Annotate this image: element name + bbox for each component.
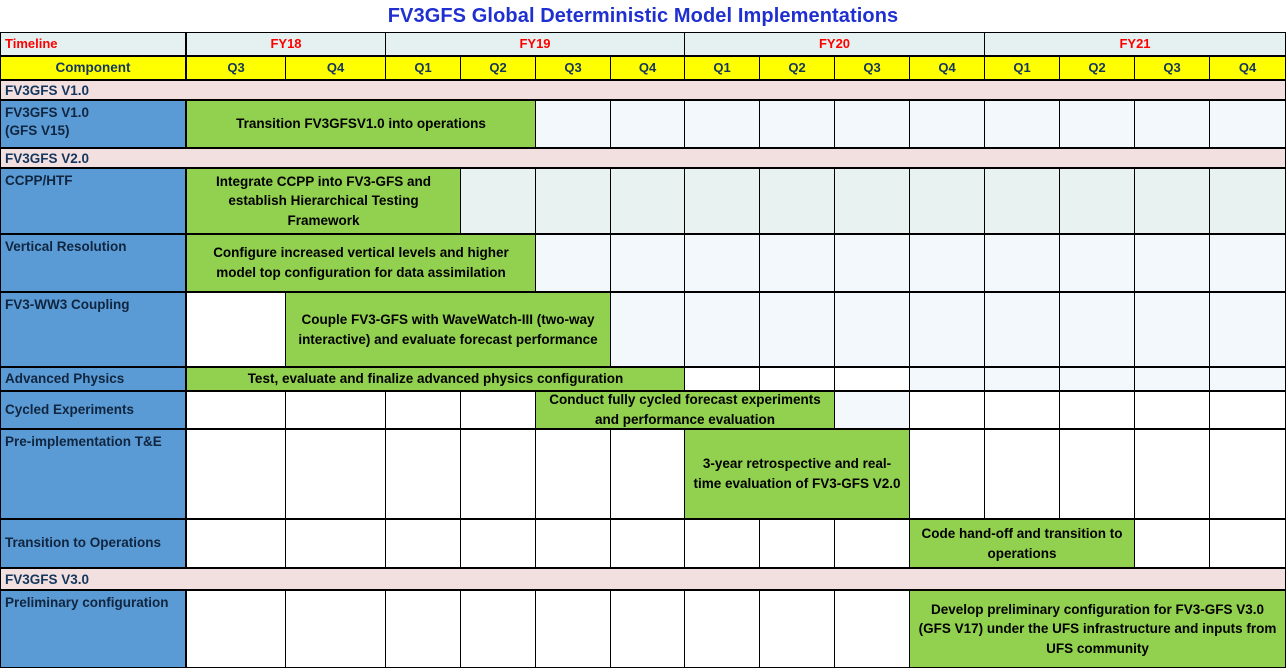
grid-cell[interactable] <box>460 590 536 668</box>
section-band-v1: FV3GFS V1.0 <box>0 80 1286 100</box>
grid-cell[interactable] <box>834 367 910 391</box>
quarter-header-0: Q3 <box>186 56 286 80</box>
grid-cell[interactable] <box>186 519 286 568</box>
grid-cell[interactable] <box>1209 292 1286 367</box>
grid-cell[interactable] <box>1059 234 1135 292</box>
grid-cell[interactable] <box>1209 519 1286 568</box>
grid-cell[interactable] <box>285 391 386 429</box>
grid-cell[interactable] <box>1059 168 1135 234</box>
timeline-header-label: Timeline <box>0 32 186 56</box>
grid-cell[interactable] <box>1134 519 1210 568</box>
grid-cell[interactable] <box>535 168 611 234</box>
task-bar-cycled-experiments[interactable]: Conduct fully cycled forecast experiment… <box>535 391 835 429</box>
quarter-header-13: Q4 <box>1209 56 1286 80</box>
quarter-header-10: Q1 <box>984 56 1060 80</box>
grid-cell[interactable] <box>610 292 685 367</box>
grid-cell[interactable] <box>984 429 1060 519</box>
grid-cell[interactable] <box>535 234 611 292</box>
grid-cell[interactable] <box>460 429 536 519</box>
grid-cell[interactable] <box>834 292 910 367</box>
quarter-header-12: Q3 <box>1134 56 1210 80</box>
grid-cell[interactable] <box>186 292 286 367</box>
grid-cell[interactable] <box>834 519 910 568</box>
row-label-pre-implementation-te: Pre-implementation T&E <box>0 429 186 519</box>
grid-cell[interactable] <box>684 590 760 668</box>
grid-cell[interactable] <box>1134 429 1210 519</box>
row-label-ccpp-htf: CCPP/HTF <box>0 168 186 234</box>
quarter-header-1: Q4 <box>285 56 386 80</box>
grid-cell[interactable] <box>1059 391 1135 429</box>
grid-cell[interactable] <box>1134 234 1210 292</box>
grid-cell[interactable] <box>610 100 685 148</box>
grid-cell[interactable] <box>610 519 685 568</box>
grid-cell[interactable] <box>1209 168 1286 234</box>
grid-cell[interactable] <box>186 391 286 429</box>
row-label-fv3gfs-v1: FV3GFS V1.0 (GFS V15) <box>0 100 186 148</box>
section-band-v2: FV3GFS V2.0 <box>0 148 1286 168</box>
grid-cell[interactable] <box>535 429 611 519</box>
fy-header-fy20: FY20 <box>684 32 985 56</box>
row-label-line-1: FV3GFS V1.0 <box>5 104 89 122</box>
grid-cell[interactable] <box>909 292 985 367</box>
grid-cell[interactable] <box>610 590 685 668</box>
grid-cell[interactable] <box>984 391 1060 429</box>
task-bar-preliminary-configuration[interactable]: Develop preliminary configuration for FV… <box>909 590 1286 668</box>
grid-cell[interactable] <box>984 168 1060 234</box>
quarter-header-11: Q2 <box>1059 56 1135 80</box>
row-label-advanced-physics: Advanced Physics <box>0 367 186 391</box>
grid-cell[interactable] <box>909 367 985 391</box>
grid-cell[interactable] <box>909 168 985 234</box>
grid-cell[interactable] <box>984 234 1060 292</box>
grid-cell[interactable] <box>1059 292 1135 367</box>
grid-cell[interactable] <box>909 391 985 429</box>
grid-cell[interactable] <box>909 100 985 148</box>
grid-cell[interactable] <box>1059 429 1135 519</box>
grid-cell[interactable] <box>759 519 835 568</box>
grid-cell[interactable] <box>834 391 910 429</box>
grid-cell[interactable] <box>385 391 461 429</box>
grid-cell[interactable] <box>460 391 536 429</box>
grid-cell[interactable] <box>610 429 685 519</box>
quarter-header-5: Q4 <box>610 56 685 80</box>
page-title: FV3GFS Global Deterministic Model Implem… <box>0 0 1286 32</box>
task-bar-advanced-physics[interactable]: Test, evaluate and finalize advanced phy… <box>186 367 685 391</box>
row-label-line-2: (GFS V15) <box>5 122 70 140</box>
fy-header-fy19: FY19 <box>385 32 685 56</box>
grid-cell[interactable] <box>759 292 835 367</box>
grid-cell[interactable] <box>759 367 835 391</box>
grid-cell[interactable] <box>684 519 760 568</box>
grid-cell[interactable] <box>1209 367 1286 391</box>
grid-cell[interactable] <box>759 100 835 148</box>
grid-cell[interactable] <box>759 590 835 668</box>
task-bar-transition-to-operations[interactable]: Code hand-off and transition to operatio… <box>909 519 1135 568</box>
grid-cell[interactable] <box>834 590 910 668</box>
grid-cell[interactable] <box>684 168 760 234</box>
grid-cell[interactable] <box>1059 367 1135 391</box>
grid-cell[interactable] <box>684 100 760 148</box>
grid-cell[interactable] <box>1134 391 1210 429</box>
grid-cell[interactable] <box>610 234 685 292</box>
row-label-vertical-resolution: Vertical Resolution <box>0 234 186 292</box>
quarter-header-2: Q1 <box>385 56 461 80</box>
task-bar-transition-v1[interactable]: Transition FV3GFSV1.0 into operations <box>186 100 536 148</box>
grid-cell[interactable] <box>385 590 461 668</box>
grid-cell[interactable] <box>759 234 835 292</box>
grid-cell[interactable] <box>285 429 386 519</box>
task-bar-fv3-ww3-coupling[interactable]: Couple FV3-GFS with WaveWatch-III (two-w… <box>285 292 611 367</box>
component-header-label: Component <box>0 56 186 80</box>
task-bar-vertical-resolution[interactable]: Configure increased vertical levels and … <box>186 234 536 292</box>
grid-cell[interactable] <box>1134 100 1210 148</box>
grid-cell[interactable] <box>684 234 760 292</box>
task-bar-ccpp-htf[interactable]: Integrate CCPP into FV3-GFS and establis… <box>186 168 461 234</box>
grid-cell[interactable] <box>1059 100 1135 148</box>
grid-cell[interactable] <box>1209 429 1286 519</box>
grid-cell[interactable] <box>285 590 386 668</box>
row-label-transition-to-operations: Transition to Operations <box>0 519 186 568</box>
grid-cell[interactable] <box>186 429 286 519</box>
grid-cell[interactable] <box>984 292 1060 367</box>
grid-cell[interactable] <box>834 234 910 292</box>
grid-cell[interactable] <box>535 590 611 668</box>
quarter-header-8: Q3 <box>834 56 910 80</box>
grid-cell[interactable] <box>1134 367 1210 391</box>
grid-cell[interactable] <box>1209 100 1286 148</box>
grid-cell[interactable] <box>984 100 1060 148</box>
grid-cell[interactable] <box>684 292 760 367</box>
quarter-header-9: Q4 <box>909 56 985 80</box>
grid-cell[interactable] <box>909 234 985 292</box>
section-band-v3: FV3GFS V3.0 <box>0 568 1286 590</box>
grid-cell[interactable] <box>285 519 386 568</box>
grid-cell[interactable] <box>460 168 536 234</box>
quarter-header-3: Q2 <box>460 56 536 80</box>
task-bar-pre-implementation-te[interactable]: 3-year retrospective and real-time evalu… <box>684 429 910 519</box>
grid-cell[interactable] <box>1209 234 1286 292</box>
grid-cell[interactable] <box>610 168 685 234</box>
row-label-preliminary-configuration: Preliminary configuration <box>0 590 186 668</box>
fy-header-fy21: FY21 <box>984 32 1286 56</box>
row-label-fv3-ww3-coupling: FV3-WW3 Coupling <box>0 292 186 367</box>
grid-cell[interactable] <box>834 100 910 148</box>
grid-cell[interactable] <box>385 429 461 519</box>
grid-cell[interactable] <box>385 519 461 568</box>
grid-cell[interactable] <box>909 429 985 519</box>
grid-cell[interactable] <box>1134 168 1210 234</box>
grid-cell[interactable] <box>1134 292 1210 367</box>
grid-cell[interactable] <box>535 100 611 148</box>
grid-cell[interactable] <box>684 367 760 391</box>
row-label-cycled-experiments: Cycled Experiments <box>0 391 186 429</box>
fy-header-fy18: FY18 <box>186 32 386 56</box>
grid-cell[interactable] <box>1209 391 1286 429</box>
quarter-header-6: Q1 <box>684 56 760 80</box>
grid-cell[interactable] <box>535 519 611 568</box>
gantt-chart-page: FV3GFS Global Deterministic Model Implem… <box>0 0 1286 668</box>
grid-cell[interactable] <box>460 519 536 568</box>
grid-cell[interactable] <box>186 590 286 668</box>
grid-cell[interactable] <box>984 367 1060 391</box>
grid-cell[interactable] <box>834 168 910 234</box>
quarter-header-4: Q3 <box>535 56 611 80</box>
page-title-text: FV3GFS Global Deterministic Model Implem… <box>388 5 899 28</box>
quarter-header-7: Q2 <box>759 56 835 80</box>
grid-cell[interactable] <box>759 168 835 234</box>
